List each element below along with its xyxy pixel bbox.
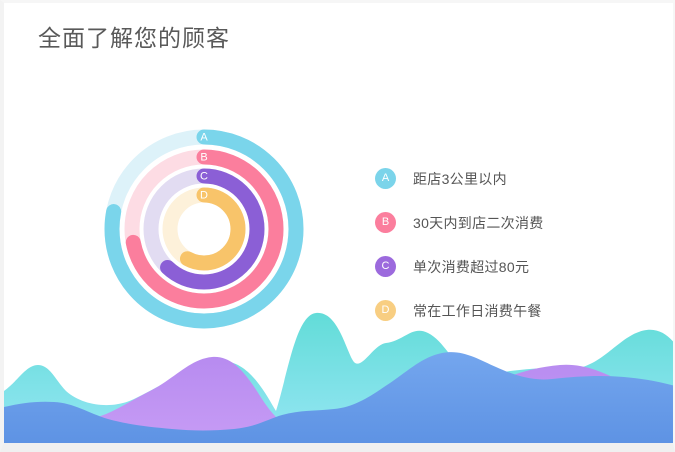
radial-progress-chart: A B C D <box>102 127 306 331</box>
ring-label-a: A <box>200 132 208 144</box>
ring-label-b: B <box>200 152 207 164</box>
legend-label-a: 距店3公里以内 <box>413 169 507 189</box>
slide-canvas: 全面了解您的顾客 <box>0 0 675 452</box>
legend-label-c: 单次消费超过80元 <box>413 257 529 277</box>
legend-label-d: 常在工作日消费午餐 <box>413 301 542 321</box>
legend-badge-a: A <box>375 168 396 189</box>
legend-item-c[interactable]: C 单次消费超过80元 <box>375 251 625 282</box>
legend-item-a[interactable]: A 距店3公里以内 <box>375 163 625 194</box>
legend-badge-d: D <box>375 300 396 321</box>
ring-label-c: C <box>200 171 208 183</box>
slide-content: 全面了解您的顾客 <box>4 3 673 443</box>
page-title: 全面了解您的顾客 <box>38 21 230 55</box>
chart-legend: A 距店3公里以内 B 30天内到店二次消费 C 单次消费超过80元 D 常在工… <box>375 163 625 326</box>
legend-item-d[interactable]: D 常在工作日消费午餐 <box>375 295 625 326</box>
legend-badge-c: C <box>375 256 396 277</box>
legend-item-b[interactable]: B 30天内到店二次消费 <box>375 207 625 238</box>
legend-badge-b: B <box>375 212 396 233</box>
legend-label-b: 30天内到店二次消费 <box>413 213 544 233</box>
ring-label-d: D <box>200 190 208 202</box>
